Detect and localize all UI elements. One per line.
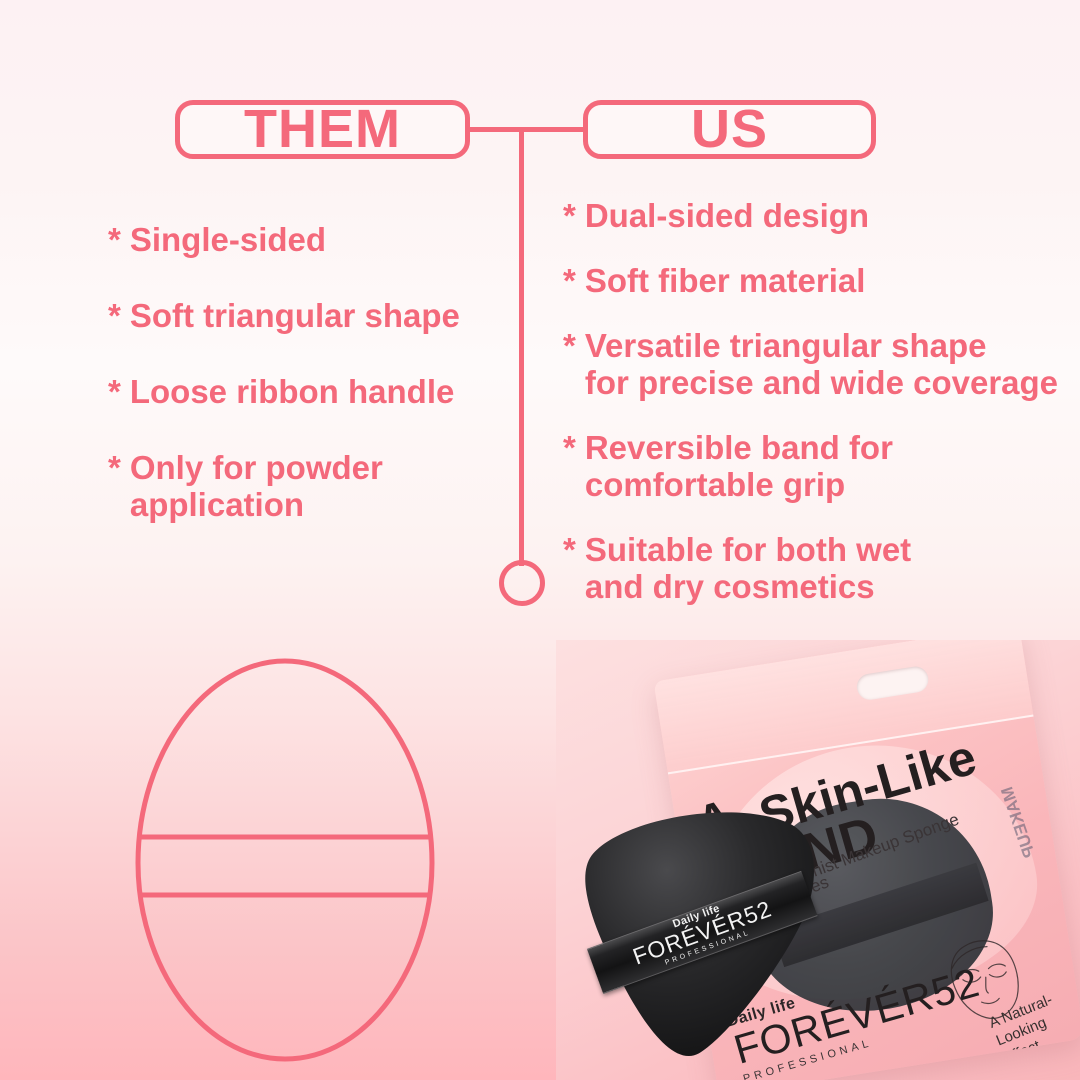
list-item: * Dual-sided design xyxy=(563,198,1073,235)
list-item-text: Soft fiber material xyxy=(585,263,866,300)
bullet-star-icon: * xyxy=(563,198,576,235)
list-item: * Loose ribbon handle xyxy=(108,374,508,411)
bullet-star-icon: * xyxy=(563,328,576,402)
bullet-star-icon: * xyxy=(108,298,121,335)
header-label-them: THEM xyxy=(244,102,401,156)
bullet-star-icon: * xyxy=(108,450,121,524)
list-item: * Single-sided xyxy=(108,222,508,259)
connector-line-right xyxy=(519,127,585,132)
product-photo: A Skin-Like BLEND The Perfectionist Make… xyxy=(556,640,1080,1080)
list-item: * Only for powder application xyxy=(108,450,508,524)
list-item-text: Single-sided xyxy=(130,222,326,259)
connector-line-vertical xyxy=(519,129,524,566)
header-pill-us: US xyxy=(583,100,876,159)
list-item-text: Dual-sided design xyxy=(585,198,869,235)
list-item-text: Only for powder application xyxy=(130,450,383,524)
competitor-sponge-outline-icon xyxy=(130,655,440,1065)
header-label-us: US xyxy=(691,102,768,156)
list-item: * Soft triangular shape xyxy=(108,298,508,335)
list-item-text: Loose ribbon handle xyxy=(130,374,455,411)
connector-line-left xyxy=(468,127,524,132)
feature-list-us: * Dual-sided design * Soft fiber materia… xyxy=(563,198,1073,634)
list-item: * Reversible band for comfortable grip xyxy=(563,430,1073,504)
list-item-text: Versatile triangular shape for precise a… xyxy=(585,328,1058,402)
list-item: * Suitable for both wet and dry cosmetic… xyxy=(563,532,1073,606)
bullet-star-icon: * xyxy=(108,222,121,259)
pouch-hang-hole xyxy=(855,665,930,702)
header-pill-them: THEM xyxy=(175,100,470,159)
bullet-star-icon: * xyxy=(563,263,576,300)
list-item-text: Suitable for both wet and dry cosmetics xyxy=(585,532,911,606)
bullet-star-icon: * xyxy=(563,532,576,606)
list-item: * Soft fiber material xyxy=(563,263,1073,300)
feature-list-them: * Single-sided * Soft triangular shape *… xyxy=(108,222,508,563)
list-item: * Versatile triangular shape for precise… xyxy=(563,328,1073,402)
list-item-text: Reversible band for comfortable grip xyxy=(585,430,893,504)
connector-node-circle xyxy=(499,560,545,606)
triangular-sponge: Daily life FORÉVÉR52 PROFESSIONAL xyxy=(556,786,859,1074)
list-item-text: Soft triangular shape xyxy=(130,298,460,335)
bullet-star-icon: * xyxy=(563,430,576,504)
infographic-canvas: THEM US * Single-sided * Soft triangular… xyxy=(0,0,1080,1080)
bullet-star-icon: * xyxy=(108,374,121,411)
